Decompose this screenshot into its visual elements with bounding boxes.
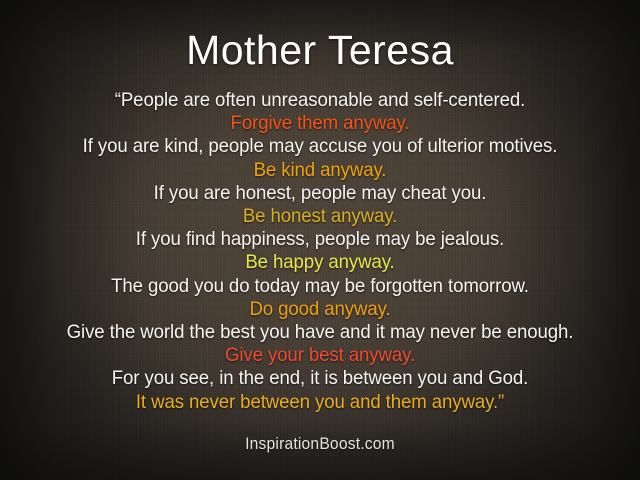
quote-line-emphasis: Be honest anyway.	[14, 205, 625, 228]
quote-line-emphasis: Do good anyway.	[14, 298, 625, 321]
quote-line: If you are kind, people may accuse you o…	[14, 135, 625, 158]
quote-line: Give the world the best you have and it …	[14, 321, 625, 344]
quote-line-emphasis: Be happy anyway.	[14, 251, 625, 274]
quote-line-emphasis: Be kind anyway.	[14, 159, 625, 182]
quote-line-emphasis: Forgive them anyway.	[14, 112, 625, 135]
quote-line: “People are often unreasonable and self-…	[14, 89, 625, 112]
quote-line: If you find happiness, people may be jea…	[14, 228, 625, 251]
quote-line: The good you do today may be forgotten t…	[14, 275, 625, 298]
quote-line: If you are honest, people may cheat you.	[14, 182, 625, 205]
quote-poster: Mother Teresa “People are often unreason…	[0, 0, 640, 480]
page-title: Mother Teresa	[0, 26, 640, 74]
quote-line: For you see, in the end, it is between y…	[14, 367, 625, 390]
source-attribution: InspirationBoost.com	[26, 433, 615, 454]
poster-content: Mother Teresa “People are often unreason…	[0, 0, 640, 480]
quote-text-block: “People are often unreasonable and self-…	[0, 89, 640, 414]
quote-line-emphasis: It was never between you and them anyway…	[14, 391, 625, 414]
quote-line-emphasis: Give your best anyway.	[14, 344, 625, 367]
